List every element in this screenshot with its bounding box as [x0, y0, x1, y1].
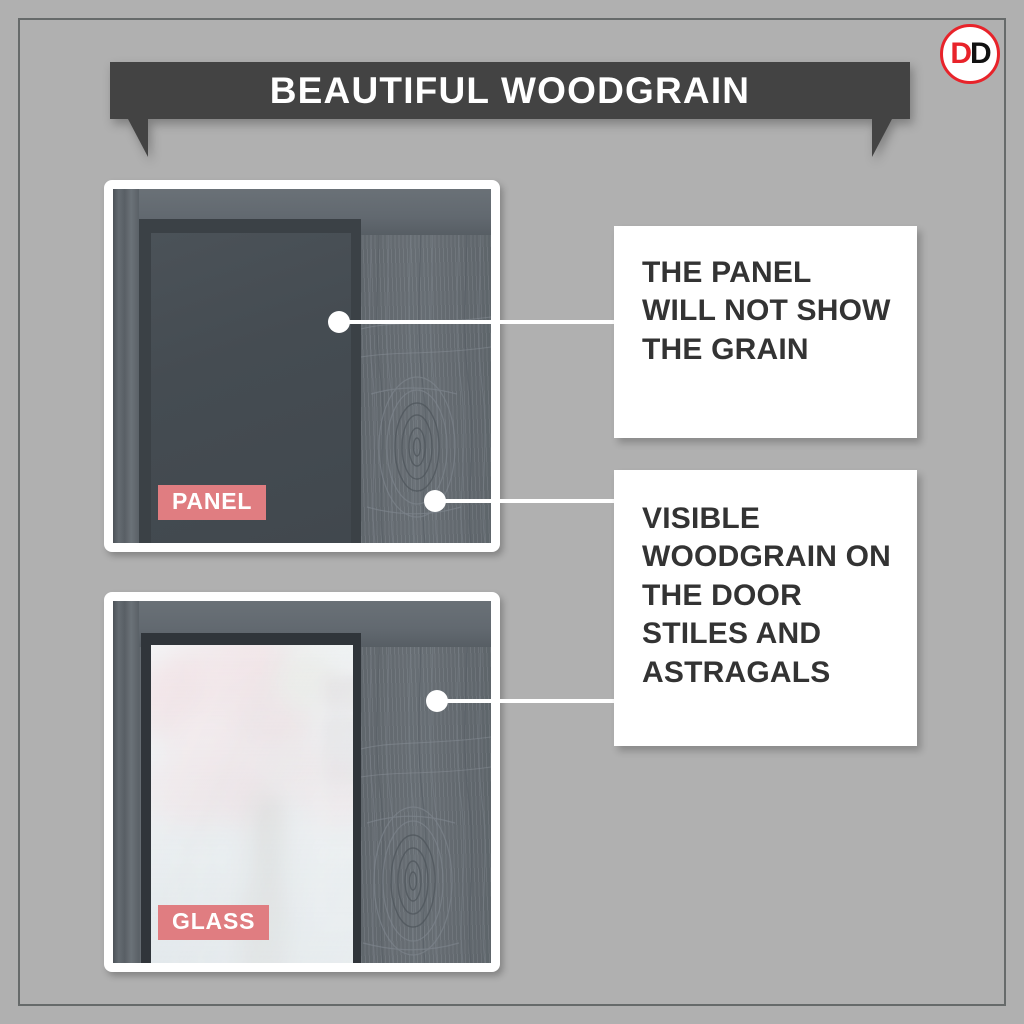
door-stile-woodgrain	[361, 601, 491, 963]
callout-panel-text: THE PANEL WILL NOT SHOW THE GRAIN	[642, 254, 891, 369]
infographic-canvas: DD BEAUTIFUL WOODGRAIN	[0, 0, 1024, 1024]
banner-tail-right-icon	[872, 119, 892, 157]
door-left-edge-bevel	[113, 601, 139, 963]
connector-dot-stile-top	[424, 490, 446, 512]
title-banner: BEAUTIFUL WOODGRAIN	[110, 62, 910, 158]
dd-logo[interactable]: DD	[940, 24, 1000, 84]
logo-letter-black: D	[970, 37, 990, 70]
banner-tail-left-icon	[128, 119, 148, 157]
page-title: BEAUTIFUL WOODGRAIN	[110, 62, 910, 119]
connector-line-stile-top	[436, 499, 620, 503]
door-stile-woodgrain	[361, 189, 491, 543]
callout-visible-woodgrain: VISIBLE WOODGRAIN ON THE DOOR STILES AND…	[614, 470, 917, 746]
connector-dot-stile-bottom	[426, 690, 448, 712]
connector-dot-panel	[328, 311, 350, 333]
woodgrain-pattern-icon	[361, 601, 491, 963]
callout-panel-no-grain: THE PANEL WILL NOT SHOW THE GRAIN	[614, 226, 917, 438]
caption-badge-glass: GLASS	[158, 905, 269, 940]
caption-badge-panel: PANEL	[158, 485, 266, 520]
connector-line-panel	[340, 320, 620, 324]
logo-letter-red: D	[950, 37, 970, 70]
callout-woodgrain-text: VISIBLE WOODGRAIN ON THE DOOR STILES AND…	[642, 500, 899, 692]
woodgrain-pattern-icon	[361, 189, 491, 543]
connector-line-stile-bottom	[438, 699, 620, 703]
door-left-edge-bevel	[113, 189, 139, 543]
